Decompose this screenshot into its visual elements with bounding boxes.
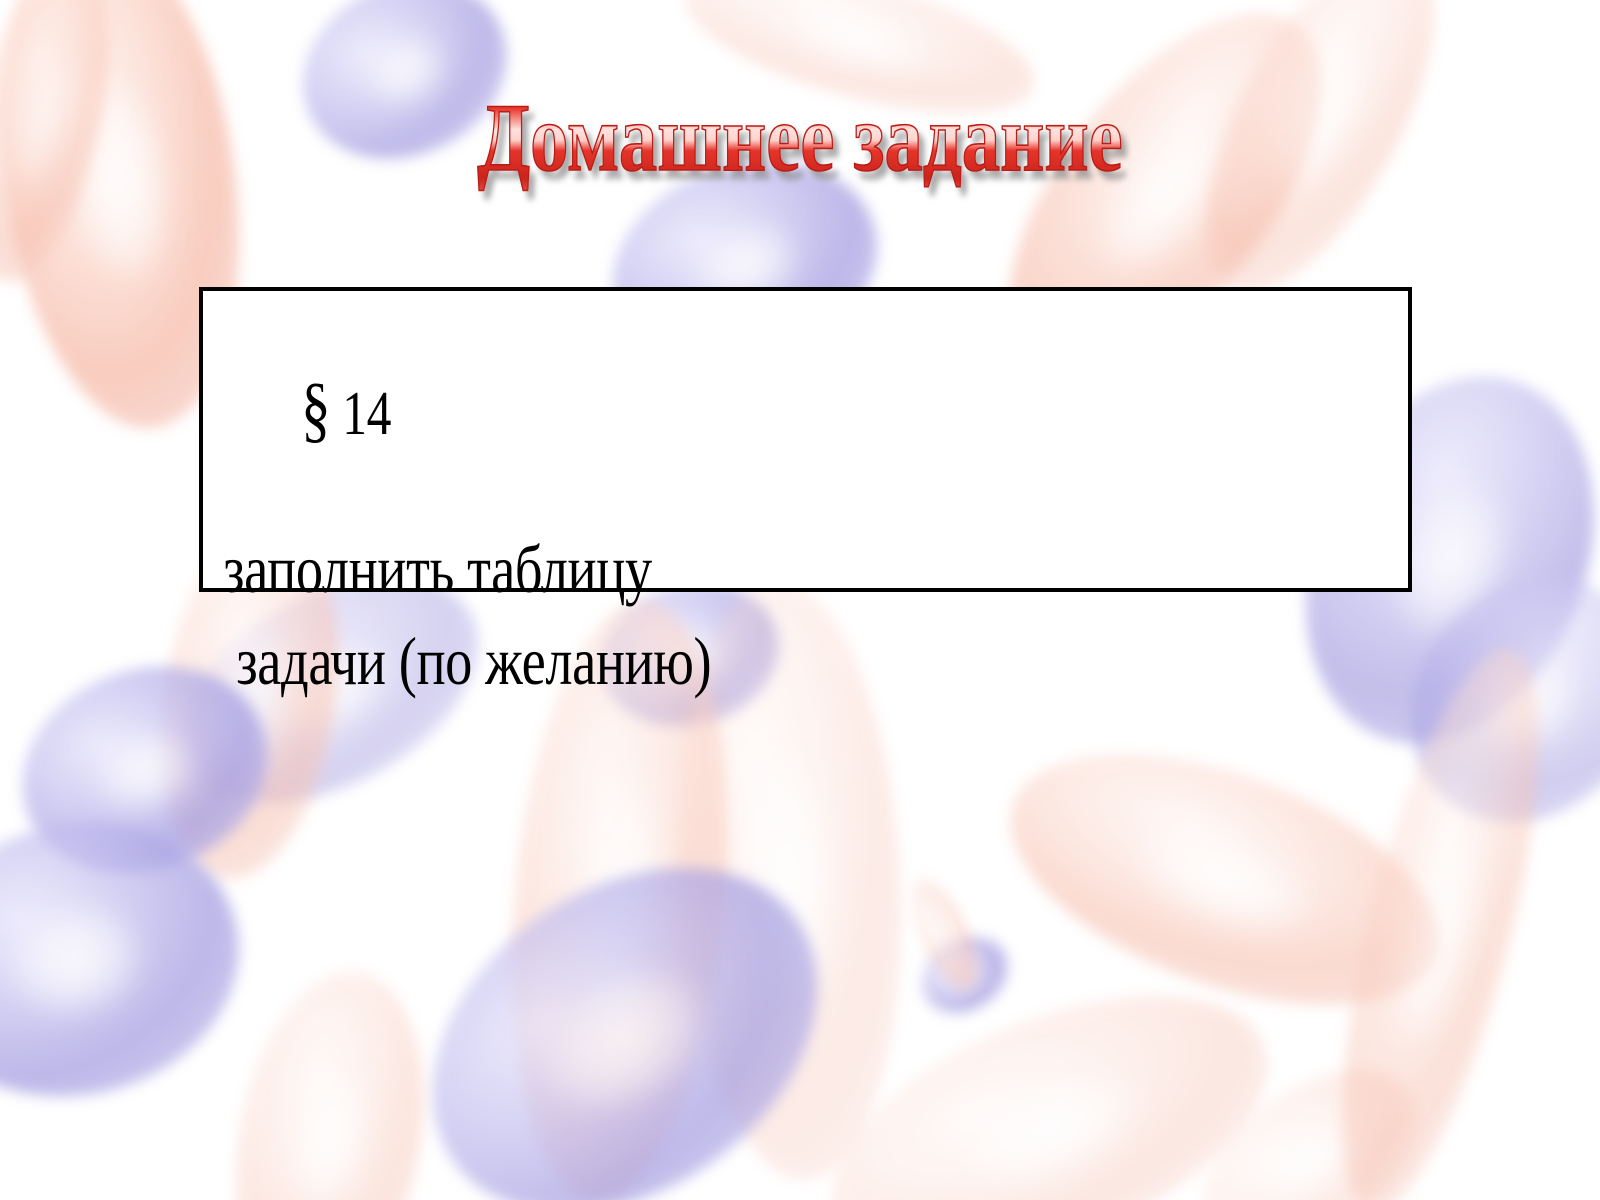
cell-pink-verybot [796,942,1305,1200]
assignment-line-section: § 14 [229,311,1172,509]
section-number: 14 [342,380,391,448]
homework-text-box: § 14 заполнить таблицу задачи (по желани… [199,287,1412,592]
cell-pink-rightbar [1302,632,1578,1200]
cell-pink-botright [978,704,1473,1055]
cell-pink-botmid [1172,1034,1449,1200]
cell-lav-small [909,922,1022,1028]
cell-pink-botleft [212,957,448,1200]
cell-lav-left-low [0,794,264,1127]
assignment-line-tasks: задачи (по желанию) [223,627,1171,695]
slide-canvas: Домашнее задание § 14 заполнить таблицу … [0,0,1600,1200]
page-title: Домашнее задание [350,88,1250,198]
cell-pink-small [900,871,991,998]
title-wrap: Домашнее задание [0,88,1600,203]
cell-lav-bigbot [367,797,883,1200]
assignment-line-table: заполнить таблицу [223,535,1171,603]
section-number-wrap: 14 [330,380,391,448]
title-glyphs: Домашнее задание [477,85,1122,191]
section-symbol: § [301,369,330,451]
